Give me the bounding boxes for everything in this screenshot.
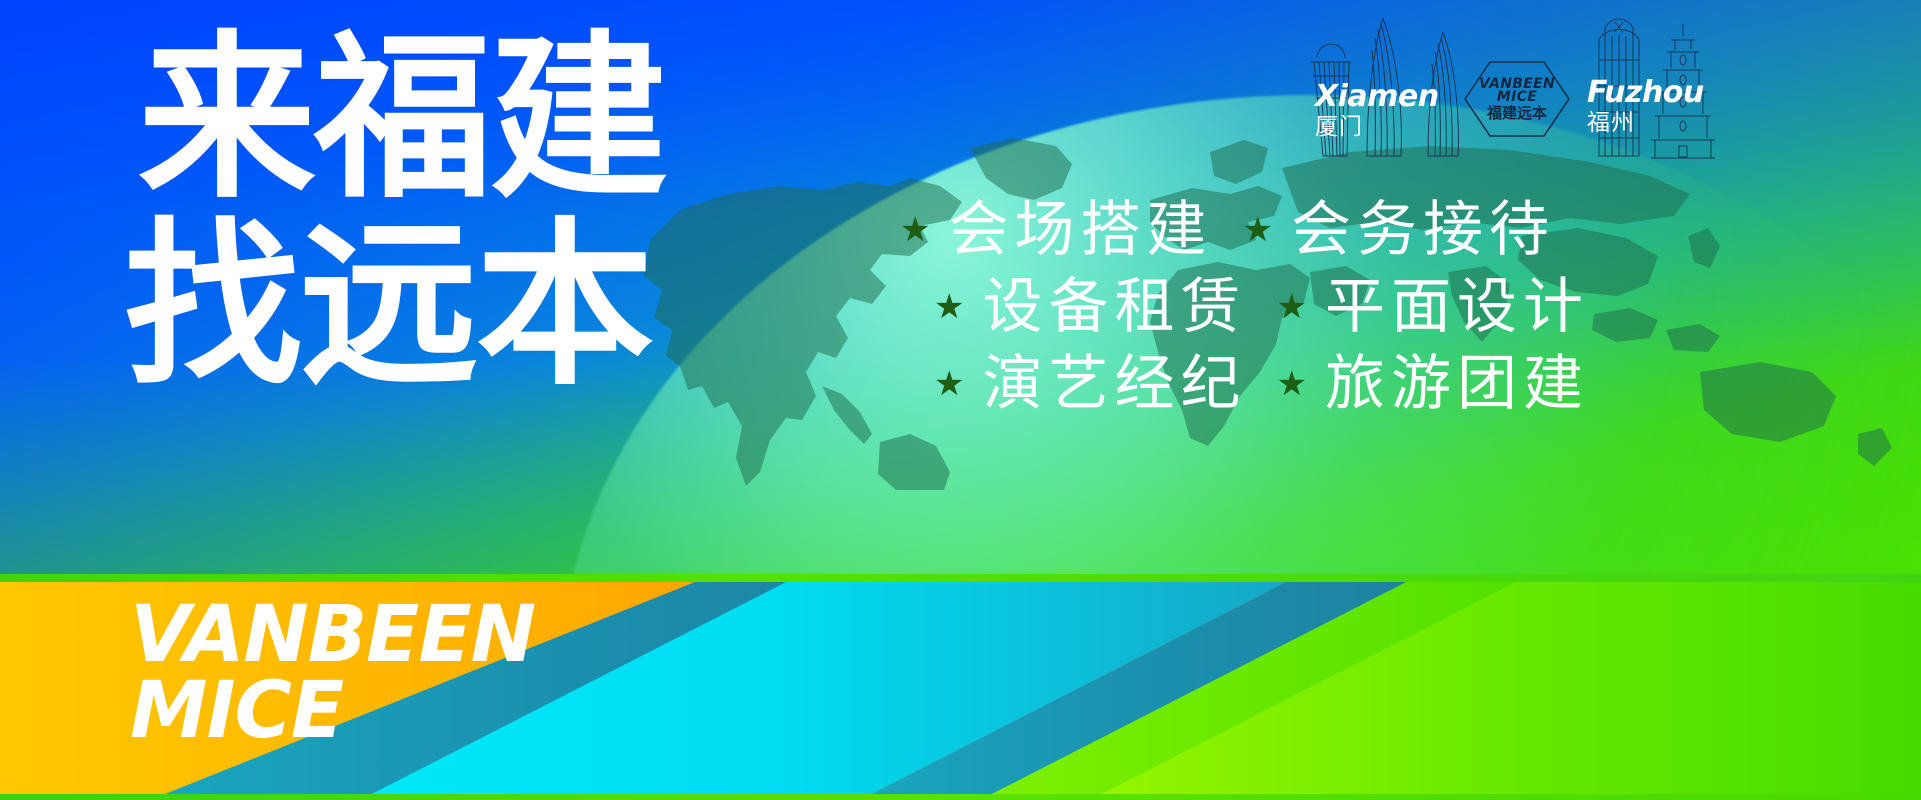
band-top-seam <box>0 574 1921 582</box>
star-icon: ★ <box>1242 213 1272 247</box>
service-label: 设备租赁 <box>982 275 1246 340</box>
star-icon: ★ <box>1276 367 1306 401</box>
city-name-cn: 厦门 <box>1315 116 1439 139</box>
service-item: ★ 演艺经纪 <box>934 352 1246 417</box>
service-item: ★ 旅游团建 <box>1276 352 1588 417</box>
service-list: ★ 会场搭建 ★ 会务接待 ★ 设备租赁 ★ 平面设计 ★ 演艺经纪 <box>900 198 1589 416</box>
service-label: 会场搭建 <box>948 198 1212 263</box>
badge-brand-cn: 福建远本 <box>1487 106 1547 121</box>
hexagon-badge-text: VANBEEN MICE 福建远本 <box>1463 60 1571 138</box>
bottom-edge-strip <box>0 794 1921 800</box>
bottom-brand-band: VANBEEN MICE <box>0 580 1921 800</box>
service-row: ★ 演艺经纪 ★ 旅游团建 <box>934 352 1589 417</box>
service-label: 旅游团建 <box>1325 352 1589 417</box>
service-row: ★ 会场搭建 ★ 会务接待 <box>900 198 1589 263</box>
promotional-banner: 来福建 找远本 ★ 会场搭建 ★ 会务接待 ★ 设备租赁 ★ 平面设计 <box>0 0 1921 800</box>
city-label-xiamen: Xiamen 厦门 <box>1315 82 1439 139</box>
star-icon: ★ <box>934 367 964 401</box>
service-item: ★ 会务接待 <box>1242 198 1554 263</box>
city-lockup: Xiamen 厦门 Fuzhou 福州 VANBEEN MICE 福建远本 <box>1305 6 1725 166</box>
service-label: 演艺经纪 <box>982 352 1246 417</box>
city-name-en: Fuzhou <box>1587 78 1704 108</box>
city-name-cn: 福州 <box>1587 112 1704 135</box>
service-label: 会务接待 <box>1291 198 1555 263</box>
star-icon: ★ <box>900 213 930 247</box>
hexagon-logo-badge: VANBEEN MICE 福建远本 <box>1463 60 1571 138</box>
brand-line-2: MICE <box>130 676 535 748</box>
service-item: ★ 设备租赁 <box>934 275 1246 340</box>
service-label: 平面设计 <box>1325 275 1589 340</box>
star-icon: ★ <box>1276 290 1306 324</box>
headline-line-2: 找远本 <box>124 221 666 392</box>
brand-wordmark: VANBEEN MICE <box>130 600 535 748</box>
service-row: ★ 设备租赁 ★ 平面设计 <box>934 275 1589 340</box>
brand-line-1: VANBEEN <box>130 600 535 672</box>
badge-brand-line-2: MICE <box>1497 90 1537 104</box>
star-icon: ★ <box>934 290 964 324</box>
city-name-en: Xiamen <box>1315 82 1439 112</box>
city-label-fuzhou: Fuzhou 福州 <box>1587 78 1704 135</box>
headline-line-1: 来福建 <box>138 34 666 205</box>
service-item: ★ 平面设计 <box>1276 275 1588 340</box>
headline: 来福建 找远本 <box>138 34 666 392</box>
service-item: ★ 会场搭建 <box>900 198 1212 263</box>
